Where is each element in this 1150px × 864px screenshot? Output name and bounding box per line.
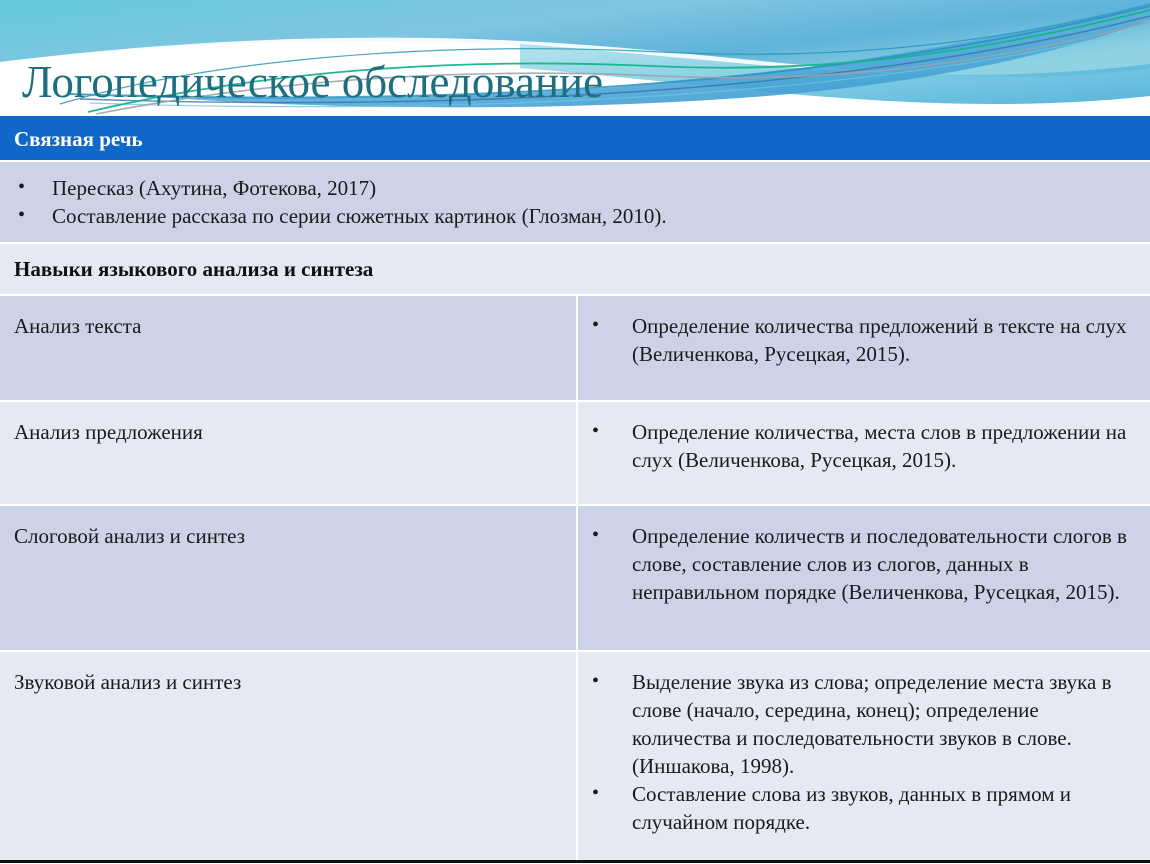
- section-header-label: Связная речь: [0, 116, 1150, 160]
- intro-bullet-list: Пересказ (Ахутина, Фотекова, 2017) Соста…: [0, 174, 1140, 230]
- row-detail: Определение количества предложений в тек…: [578, 296, 1150, 400]
- row-detail: Определение количества, места слов в пре…: [578, 402, 1150, 504]
- detail-bullet-list: Определение количества, места слов в пре…: [578, 418, 1140, 474]
- list-item: Определение количества, места слов в пре…: [578, 418, 1140, 474]
- list-item: Пересказ (Ахутина, Фотекова, 2017): [0, 174, 1140, 202]
- content-table: Связная речь Пересказ (Ахутина, Фотекова…: [0, 116, 1150, 863]
- subheading-label: Навыки языкового анализа и синтеза: [0, 244, 1150, 294]
- row-label: Звуковой анализ и синтез: [0, 652, 578, 860]
- table-row: Слоговой анализ и синтез Определение кол…: [0, 506, 1150, 652]
- table-row: Звуковой анализ и синтез Выделение звука…: [0, 652, 1150, 860]
- intro-bullets-cell: Пересказ (Ахутина, Фотекова, 2017) Соста…: [0, 162, 1150, 242]
- list-item: Выделение звука из слова; определение ме…: [578, 668, 1140, 780]
- row-label: Слоговой анализ и синтез: [0, 506, 578, 650]
- table-row: Анализ текста Определение количества пре…: [0, 296, 1150, 402]
- table-row: Анализ предложения Определение количеств…: [0, 402, 1150, 506]
- list-item: Составление слова из звуков, данных в пр…: [578, 780, 1140, 836]
- intro-bullets-row: Пересказ (Ахутина, Фотекова, 2017) Соста…: [0, 162, 1150, 244]
- detail-bullet-list: Определение количества предложений в тек…: [578, 312, 1140, 368]
- list-item: Определение количества предложений в тек…: [578, 312, 1140, 368]
- subheading-row: Навыки языкового анализа и синтеза: [0, 244, 1150, 296]
- presentation-slide: Логопедическое обследование Связная речь…: [0, 0, 1150, 864]
- row-label: Анализ предложения: [0, 402, 578, 504]
- list-item: Составление рассказа по серии сюжетных к…: [0, 202, 1140, 230]
- slide-title: Логопедическое обследование: [22, 56, 603, 108]
- row-detail: Определение количеств и последовательнос…: [578, 506, 1150, 650]
- section-header-row: Связная речь: [0, 116, 1150, 162]
- row-label: Анализ текста: [0, 296, 578, 400]
- row-detail: Выделение звука из слова; определение ме…: [578, 652, 1150, 860]
- detail-bullet-list: Выделение звука из слова; определение ме…: [578, 668, 1140, 836]
- detail-bullet-list: Определение количеств и последовательнос…: [578, 522, 1140, 606]
- list-item: Определение количеств и последовательнос…: [578, 522, 1140, 606]
